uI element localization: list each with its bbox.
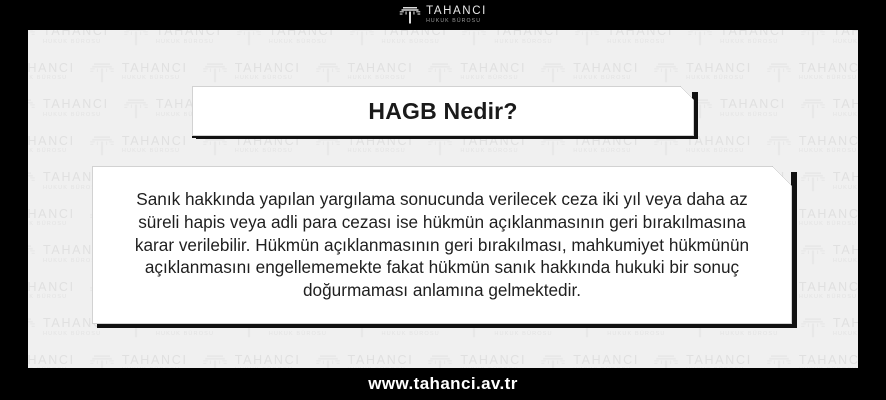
poster-canvas: TAHANCI HUKUK BÜROSU TAHANCIHUKUK BÜROSU… — [0, 0, 886, 400]
watermark-name: TAHANCI — [573, 62, 639, 75]
watermark-text: TAHANCIHUKUK BÜROSU — [235, 62, 301, 82]
watermark-item: TAHANCIHUKUK BÜROSU — [89, 61, 188, 84]
watermark-name: TAHANCI — [43, 30, 109, 38]
column-pillar-icon — [89, 353, 115, 369]
column-pillar-icon — [800, 316, 826, 339]
watermark-text: TAHANCIHUKUK BÜROSU — [43, 98, 109, 118]
watermark-subtitle: HUKUK BÜROSU — [720, 40, 786, 46]
watermark-subtitle: HUKUK BÜROSU — [460, 149, 526, 155]
column-pillar-icon — [202, 61, 228, 84]
watermark-text: TAHANCIHUKUK BÜROSU — [28, 208, 75, 228]
watermark-text: TAHANCIHUKUK BÜROSU — [799, 354, 858, 368]
watermark-name: TAHANCI — [833, 98, 858, 111]
title-card: HAGB Nedir? — [192, 86, 694, 136]
column-pillar-icon — [236, 30, 262, 47]
watermark-text: TAHANCIHUKUK BÜROSU — [494, 30, 560, 46]
watermark-text: TAHANCIHUKUK BÜROSU — [122, 354, 188, 368]
watermark-item: TAHANCIHUKUK BÜROSU — [540, 353, 639, 369]
column-pillar-icon — [766, 134, 792, 157]
watermark-text: TAHANCIHUKUK BÜROSU — [28, 354, 75, 368]
column-pillar-icon — [766, 353, 792, 369]
watermark-subtitle: HUKUK BÜROSU — [799, 222, 858, 228]
column-pillar-icon — [315, 353, 341, 369]
column-pillar-icon — [399, 5, 421, 25]
letterbox-left — [0, 0, 28, 400]
watermark-text: TAHANCIHUKUK BÜROSU — [686, 62, 752, 82]
watermark-item: TAHANCIHUKUK BÜROSU — [461, 30, 560, 47]
body-paragraph: Sanık hakkında yapılan yargılama sonucun… — [93, 188, 791, 302]
watermark-name: TAHANCI — [720, 98, 786, 111]
watermark-item: TAHANCIHUKUK BÜROSU — [427, 61, 526, 84]
watermark-subtitle: HUKUK BÜROSU — [43, 332, 109, 338]
watermark-name: TAHANCI — [799, 135, 858, 148]
watermark-item: TAHANCIHUKUK BÜROSU — [766, 134, 858, 157]
brand-logo: TAHANCI HUKUK BÜROSU — [399, 5, 487, 25]
watermark-text: TAHANCIHUKUK BÜROSU — [348, 354, 414, 368]
watermark-text: TAHANCIHUKUK BÜROSU — [833, 171, 858, 191]
watermark-text: TAHANCIHUKUK BÜROSU — [833, 317, 858, 337]
watermark-name: TAHANCI — [28, 135, 75, 148]
watermark-item: TAHANCIHUKUK BÜROSU — [766, 61, 858, 84]
watermark-subtitle: HUKUK BÜROSU — [494, 332, 560, 338]
watermark-name: TAHANCI — [686, 354, 752, 367]
watermark-name: TAHANCI — [460, 354, 526, 367]
watermark-subtitle: HUKUK BÜROSU — [28, 149, 75, 155]
column-pillar-icon — [202, 353, 228, 369]
column-pillar-icon — [800, 243, 826, 266]
watermark-subtitle: HUKUK BÜROSU — [269, 332, 335, 338]
watermark-name: TAHANCI — [382, 30, 448, 38]
website-url[interactable]: www.tahanci.av.tr — [368, 374, 517, 394]
watermark-name: TAHANCI — [269, 30, 335, 38]
watermark-subtitle: HUKUK BÜROSU — [156, 332, 222, 338]
column-pillar-icon — [28, 30, 36, 47]
watermark-name: TAHANCI — [235, 62, 301, 75]
watermark-text: TAHANCIHUKUK BÜROSU — [43, 30, 109, 46]
watermark-subtitle: HUKUK BÜROSU — [573, 149, 639, 155]
watermark-text: TAHANCIHUKUK BÜROSU — [573, 62, 639, 82]
watermark-item: TAHANCIHUKUK BÜROSU — [28, 30, 109, 47]
watermark-text: TAHANCIHUKUK BÜROSU — [156, 30, 222, 46]
watermark-text: TAHANCIHUKUK BÜROSU — [720, 98, 786, 118]
watermark-text: TAHANCIHUKUK BÜROSU — [799, 281, 858, 301]
watermark-subtitle: HUKUK BÜROSU — [43, 113, 109, 119]
watermark-subtitle: HUKUK BÜROSU — [235, 76, 301, 82]
watermark-item: TAHANCIHUKUK BÜROSU — [766, 353, 858, 369]
column-pillar-icon — [123, 30, 149, 47]
watermark-subtitle: HUKUK BÜROSU — [235, 149, 301, 155]
watermark-text: TAHANCIHUKUK BÜROSU — [28, 281, 75, 301]
column-pillar-icon — [540, 61, 566, 84]
watermark-item: TAHANCIHUKUK BÜROSU — [315, 61, 414, 84]
column-pillar-icon — [427, 353, 453, 369]
watermark-name: TAHANCI — [833, 244, 858, 257]
watermark-text: TAHANCIHUKUK BÜROSU — [607, 30, 673, 46]
watermark-subtitle: HUKUK BÜROSU — [348, 149, 414, 155]
watermark-row: TAHANCIHUKUK BÜROSUTAHANCIHUKUK BÜROSUTA… — [28, 61, 858, 84]
watermark-item: TAHANCIHUKUK BÜROSU — [800, 316, 858, 339]
watermark-item: TAHANCIHUKUK BÜROSU — [236, 30, 335, 47]
watermark-item: TAHANCIHUKUK BÜROSU — [349, 30, 448, 47]
column-pillar-icon — [315, 61, 341, 84]
watermark-subtitle: HUKUK BÜROSU — [460, 76, 526, 82]
watermark-text: TAHANCIHUKUK BÜROSU — [122, 62, 188, 82]
watermark-subtitle: HUKUK BÜROSU — [720, 113, 786, 119]
watermark-text: TAHANCIHUKUK BÜROSU — [235, 354, 301, 368]
watermark-name: TAHANCI — [494, 30, 560, 38]
brand-text: TAHANCI HUKUK BÜROSU — [426, 6, 487, 24]
watermark-text: TAHANCIHUKUK BÜROSU — [686, 354, 752, 368]
watermark-subtitle: HUKUK BÜROSU — [799, 149, 858, 155]
column-pillar-icon — [574, 30, 600, 47]
watermark-text: TAHANCIHUKUK BÜROSU — [833, 98, 858, 118]
watermark-subtitle: HUKUK BÜROSU — [348, 76, 414, 82]
watermark-item: TAHANCIHUKUK BÜROSU — [28, 207, 75, 230]
watermark-text: TAHANCIHUKUK BÜROSU — [28, 62, 75, 82]
watermark-item: TAHANCIHUKUK BÜROSU — [89, 134, 188, 157]
watermark-subtitle: HUKUK BÜROSU — [122, 76, 188, 82]
watermark-text: TAHANCIHUKUK BÜROSU — [269, 30, 335, 46]
watermark-item: TAHANCIHUKUK BÜROSU — [653, 353, 752, 369]
watermark-name: TAHANCI — [686, 62, 752, 75]
header-band: TAHANCI HUKUK BÜROSU — [0, 0, 886, 30]
watermark-item: TAHANCIHUKUK BÜROSU — [687, 97, 786, 120]
watermark-name: TAHANCI — [799, 62, 858, 75]
column-pillar-icon — [123, 97, 149, 120]
column-pillar-icon — [28, 243, 36, 266]
watermark-name: TAHANCI — [799, 281, 858, 294]
watermark-item: TAHANCIHUKUK BÜROSU — [800, 97, 858, 120]
watermark-name: TAHANCI — [833, 171, 858, 184]
watermark-name: TAHANCI — [607, 30, 673, 38]
watermark-item: TAHANCIHUKUK BÜROSU — [800, 243, 858, 266]
watermark-item: TAHANCIHUKUK BÜROSU — [123, 30, 222, 47]
watermark-item: TAHANCIHUKUK BÜROSU — [574, 30, 673, 47]
watermark-row: TAHANCIHUKUK BÜROSUTAHANCIHUKUK BÜROSUTA… — [28, 30, 858, 47]
watermark-subtitle: HUKUK BÜROSU — [382, 332, 448, 338]
watermark-subtitle: HUKUK BÜROSU — [833, 186, 858, 192]
watermark-item: TAHANCIHUKUK BÜROSU — [89, 353, 188, 369]
column-pillar-icon — [800, 97, 826, 120]
watermark-subtitle: HUKUK BÜROSU — [607, 332, 673, 338]
footer-band: www.tahanci.av.tr — [0, 368, 886, 400]
watermark-item: TAHANCIHUKUK BÜROSU — [202, 353, 301, 369]
watermark-name: TAHANCI — [122, 135, 188, 148]
watermark-subtitle: HUKUK BÜROSU — [833, 259, 858, 265]
watermark-subtitle: HUKUK BÜROSU — [833, 113, 858, 119]
watermark-subtitle: HUKUK BÜROSU — [28, 222, 75, 228]
watermark-text: TAHANCIHUKUK BÜROSU — [460, 354, 526, 368]
column-pillar-icon — [687, 30, 713, 47]
watermark-name: TAHANCI — [720, 30, 786, 38]
column-pillar-icon — [653, 353, 679, 369]
watermark-item: TAHANCIHUKUK BÜROSU — [28, 134, 75, 157]
watermark-subtitle: HUKUK BÜROSU — [833, 332, 858, 338]
watermark-subtitle: HUKUK BÜROSU — [156, 40, 222, 46]
watermark-item: TAHANCIHUKUK BÜROSU — [800, 170, 858, 193]
watermark-subtitle: HUKUK BÜROSU — [720, 332, 786, 338]
watermark-text: TAHANCIHUKUK BÜROSU — [28, 135, 75, 155]
watermark-name: TAHANCI — [460, 62, 526, 75]
watermark-name: TAHANCI — [799, 354, 858, 367]
watermark-text: TAHANCIHUKUK BÜROSU — [382, 30, 448, 46]
watermark-subtitle: HUKUK BÜROSU — [799, 295, 858, 301]
watermark-name: TAHANCI — [833, 317, 858, 330]
column-pillar-icon — [800, 170, 826, 193]
column-pillar-icon — [89, 61, 115, 84]
column-pillar-icon — [540, 353, 566, 369]
column-pillar-icon — [28, 316, 36, 339]
watermark-row: TAHANCIHUKUK BÜROSUTAHANCIHUKUK BÜROSUTA… — [28, 353, 858, 369]
watermark-item: TAHANCIHUKUK BÜROSU — [427, 353, 526, 369]
watermark-text: TAHANCIHUKUK BÜROSU — [720, 30, 786, 46]
brand-subtitle: HUKUK BÜROSU — [426, 19, 481, 24]
watermark-subtitle: HUKUK BÜROSU — [43, 40, 109, 46]
watermark-text: TAHANCIHUKUK BÜROSU — [833, 30, 858, 46]
watermark-subtitle: HUKUK BÜROSU — [799, 76, 858, 82]
column-pillar-icon — [766, 61, 792, 84]
watermark-text: TAHANCIHUKUK BÜROSU — [460, 62, 526, 82]
column-pillar-icon — [653, 61, 679, 84]
watermark-item: TAHANCIHUKUK BÜROSU — [28, 353, 75, 369]
watermark-item: TAHANCIHUKUK BÜROSU — [800, 30, 858, 47]
watermark-subtitle: HUKUK BÜROSU — [28, 76, 75, 82]
watermark-subtitle: HUKUK BÜROSU — [686, 76, 752, 82]
letterbox-right — [858, 0, 886, 400]
watermark-item: TAHANCIHUKUK BÜROSU — [28, 280, 75, 303]
watermark-subtitle: HUKUK BÜROSU — [494, 40, 560, 46]
watermark-item: TAHANCIHUKUK BÜROSU — [28, 61, 75, 84]
watermark-name: TAHANCI — [235, 354, 301, 367]
watermark-name: TAHANCI — [799, 208, 858, 221]
watermark-item: TAHANCIHUKUK BÜROSU — [687, 30, 786, 47]
watermark-item: TAHANCIHUKUK BÜROSU — [315, 353, 414, 369]
page-title: HAGB Nedir? — [368, 98, 517, 125]
watermark-item: TAHANCIHUKUK BÜROSU — [28, 97, 109, 120]
watermark-text: TAHANCIHUKUK BÜROSU — [799, 208, 858, 228]
watermark-name: TAHANCI — [573, 354, 639, 367]
column-pillar-icon — [28, 97, 36, 120]
column-pillar-icon — [427, 61, 453, 84]
watermark-name: TAHANCI — [122, 62, 188, 75]
watermark-subtitle: HUKUK BÜROSU — [382, 40, 448, 46]
watermark-subtitle: HUKUK BÜROSU — [686, 149, 752, 155]
watermark-item: TAHANCIHUKUK BÜROSU — [653, 61, 752, 84]
brand-name: TAHANCI — [426, 6, 487, 18]
watermark-text: TAHANCIHUKUK BÜROSU — [122, 135, 188, 155]
watermark-name: TAHANCI — [28, 208, 75, 221]
watermark-text: TAHANCIHUKUK BÜROSU — [573, 354, 639, 368]
watermark-item: TAHANCIHUKUK BÜROSU — [540, 61, 639, 84]
column-pillar-icon — [349, 30, 375, 47]
column-pillar-icon — [800, 30, 826, 47]
column-pillar-icon — [461, 30, 487, 47]
watermark-subtitle: HUKUK BÜROSU — [122, 149, 188, 155]
watermark-name: TAHANCI — [348, 62, 414, 75]
watermark-subtitle: HUKUK BÜROSU — [833, 40, 858, 46]
body-card: Sanık hakkında yapılan yargılama sonucun… — [92, 166, 792, 324]
column-pillar-icon — [89, 134, 115, 157]
watermark-name: TAHANCI — [156, 30, 222, 38]
watermark-name: TAHANCI — [833, 30, 858, 38]
watermark-name: TAHANCI — [28, 62, 75, 75]
watermark-name: TAHANCI — [28, 354, 75, 367]
watermark-subtitle: HUKUK BÜROSU — [573, 76, 639, 82]
watermark-item: TAHANCIHUKUK BÜROSU — [202, 61, 301, 84]
watermark-subtitle: HUKUK BÜROSU — [28, 295, 75, 301]
watermark-text: TAHANCIHUKUK BÜROSU — [348, 62, 414, 82]
column-pillar-icon — [28, 170, 36, 193]
watermark-text: TAHANCIHUKUK BÜROSU — [799, 135, 858, 155]
watermark-subtitle: HUKUK BÜROSU — [269, 40, 335, 46]
watermark-name: TAHANCI — [28, 281, 75, 294]
watermark-text: TAHANCIHUKUK BÜROSU — [799, 62, 858, 82]
watermark-name: TAHANCI — [122, 354, 188, 367]
watermark-name: TAHANCI — [43, 98, 109, 111]
watermark-subtitle: HUKUK BÜROSU — [607, 40, 673, 46]
watermark-name: TAHANCI — [348, 354, 414, 367]
watermark-text: TAHANCIHUKUK BÜROSU — [833, 244, 858, 264]
